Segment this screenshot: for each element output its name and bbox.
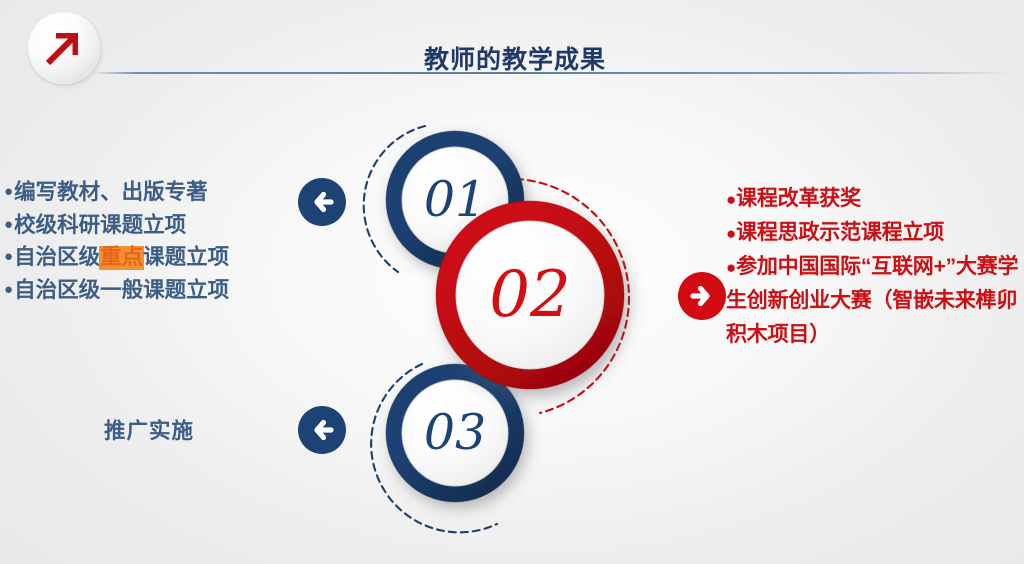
list-item: ● 编写教材、出版专著 [4, 182, 296, 204]
circle-diagram: 01 03 02 [330, 100, 720, 560]
bullet-icon: ● [726, 224, 736, 243]
list-item-label-post: 课题立项 [143, 247, 229, 269]
right-achievements-list: ●课程改革获奖 ●课程思政示范课程立项 ●参加中国国际“互联网+”大赛学生创新创… [726, 182, 1024, 352]
list-item: ● 自治区级一般课题立项 [4, 280, 296, 302]
promote-label: 推广实施 [104, 414, 194, 445]
circle-02-number: 02 [489, 258, 570, 332]
list-item-highlight: 重点 [100, 247, 143, 269]
list-item-label: 编写教材、出版专著 [14, 182, 208, 204]
left-achievements-list: ● 编写教材、出版专著 ● 校级科研课题立项 ● 自治区级 重点 课题立项 ● … [4, 182, 296, 312]
list-item-label: 课程改革获奖 [736, 187, 861, 210]
list-item: ● 自治区级 重点 课题立项 [4, 247, 296, 269]
bullet-icon: ● [4, 217, 13, 232]
list-item-label: 校级科研课题立项 [14, 215, 186, 237]
circle-03-number: 03 [424, 404, 486, 461]
page-title: 教师的教学成果 [300, 40, 730, 76]
list-item-label: 参加中国国际“互联网+”大赛学生创新创业大赛（智嵌未来榫卯积木项目） [726, 255, 1018, 346]
bullet-icon: ● [4, 184, 13, 199]
list-item-label: 自治区级一般课题立项 [14, 280, 229, 302]
title-divider [92, 72, 1014, 74]
bullet-icon: ● [4, 282, 13, 297]
circle-02[interactable]: 02 [436, 201, 624, 389]
diagonal-arrow-up-right-icon [39, 22, 89, 72]
arrow-right-circle-icon[interactable] [676, 270, 728, 322]
list-item: ●课程改革获奖 [726, 182, 1024, 216]
list-item-label-pre: 自治区级 [14, 247, 100, 269]
bullet-icon: ● [726, 190, 736, 209]
arrow-left-circle-icon[interactable] [296, 404, 348, 456]
slide-header: 教师的教学成果 [0, 0, 1024, 92]
list-item-label: 课程思政示范课程立项 [736, 221, 944, 244]
list-item: ●参加中国国际“互联网+”大赛学生创新创业大赛（智嵌未来榫卯积木项目） [726, 250, 1024, 352]
bullet-icon: ● [4, 249, 13, 264]
arrow-left-circle-icon[interactable] [296, 176, 348, 228]
list-item: ● 校级科研课题立项 [4, 215, 296, 237]
list-item: ●课程思政示范课程立项 [726, 216, 1024, 250]
